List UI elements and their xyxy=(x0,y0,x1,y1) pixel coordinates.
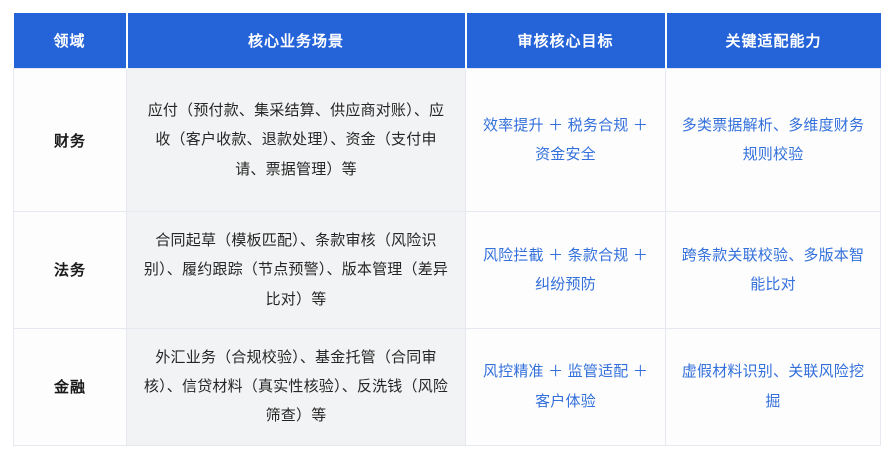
cell-domain: 财务 xyxy=(14,69,127,212)
cell-capability: 跨条款关联校验、多版本智能比对 xyxy=(666,212,881,329)
cell-scenario: 外汇业务（合规校验）、基金托管（合同审核）、信贷材料（真实性核验）、反洗钱（风险… xyxy=(127,328,466,445)
column-header-capability: 关键适配能力 xyxy=(666,13,881,69)
cell-domain: 金融 xyxy=(14,328,127,445)
cell-goal: 风控精准 ＋ 监管适配 ＋ 客户体验 xyxy=(466,328,666,445)
column-header-scenario: 核心业务场景 xyxy=(127,13,466,69)
business-scenario-table: 领域 核心业务场景 审核核心目标 关键适配能力 财务 应付（预付款、集采结算、供… xyxy=(13,13,881,446)
column-header-goal: 审核核心目标 xyxy=(466,13,666,69)
table-row: 法务 合同起草（模板匹配）、条款审核（风险识别）、履约跟踪（节点预警）、版本管理… xyxy=(14,212,881,329)
cell-domain: 法务 xyxy=(14,212,127,329)
table-header-row: 领域 核心业务场景 审核核心目标 关键适配能力 xyxy=(14,13,881,69)
cell-capability: 虚假材料识别、关联风险挖掘 xyxy=(666,328,881,445)
cell-capability: 多类票据解析、多维度财务规则校验 xyxy=(666,69,881,212)
matrix-table-container: 领域 核心业务场景 审核核心目标 关键适配能力 财务 应付（预付款、集采结算、供… xyxy=(13,13,880,437)
cell-goal: 效率提升 ＋ 税务合规 ＋ 资金安全 xyxy=(466,69,666,212)
table-body: 财务 应付（预付款、集采结算、供应商对账）、应收（客户收款、退款处理）、资金（支… xyxy=(14,69,881,446)
cell-scenario: 合同起草（模板匹配）、条款审核（风险识别）、履约跟踪（节点预警）、版本管理（差异… xyxy=(127,212,466,329)
cell-goal: 风险拦截 ＋ 条款合规 ＋ 纠纷预防 xyxy=(466,212,666,329)
table-row: 财务 应付（预付款、集采结算、供应商对账）、应收（客户收款、退款处理）、资金（支… xyxy=(14,69,881,212)
table-header: 领域 核心业务场景 审核核心目标 关键适配能力 xyxy=(14,13,881,69)
cell-scenario: 应付（预付款、集采结算、供应商对账）、应收（客户收款、退款处理）、资金（支付申请… xyxy=(127,69,466,212)
table-row: 金融 外汇业务（合规校验）、基金托管（合同审核）、信贷材料（真实性核验）、反洗钱… xyxy=(14,328,881,445)
column-header-domain: 领域 xyxy=(14,13,127,69)
